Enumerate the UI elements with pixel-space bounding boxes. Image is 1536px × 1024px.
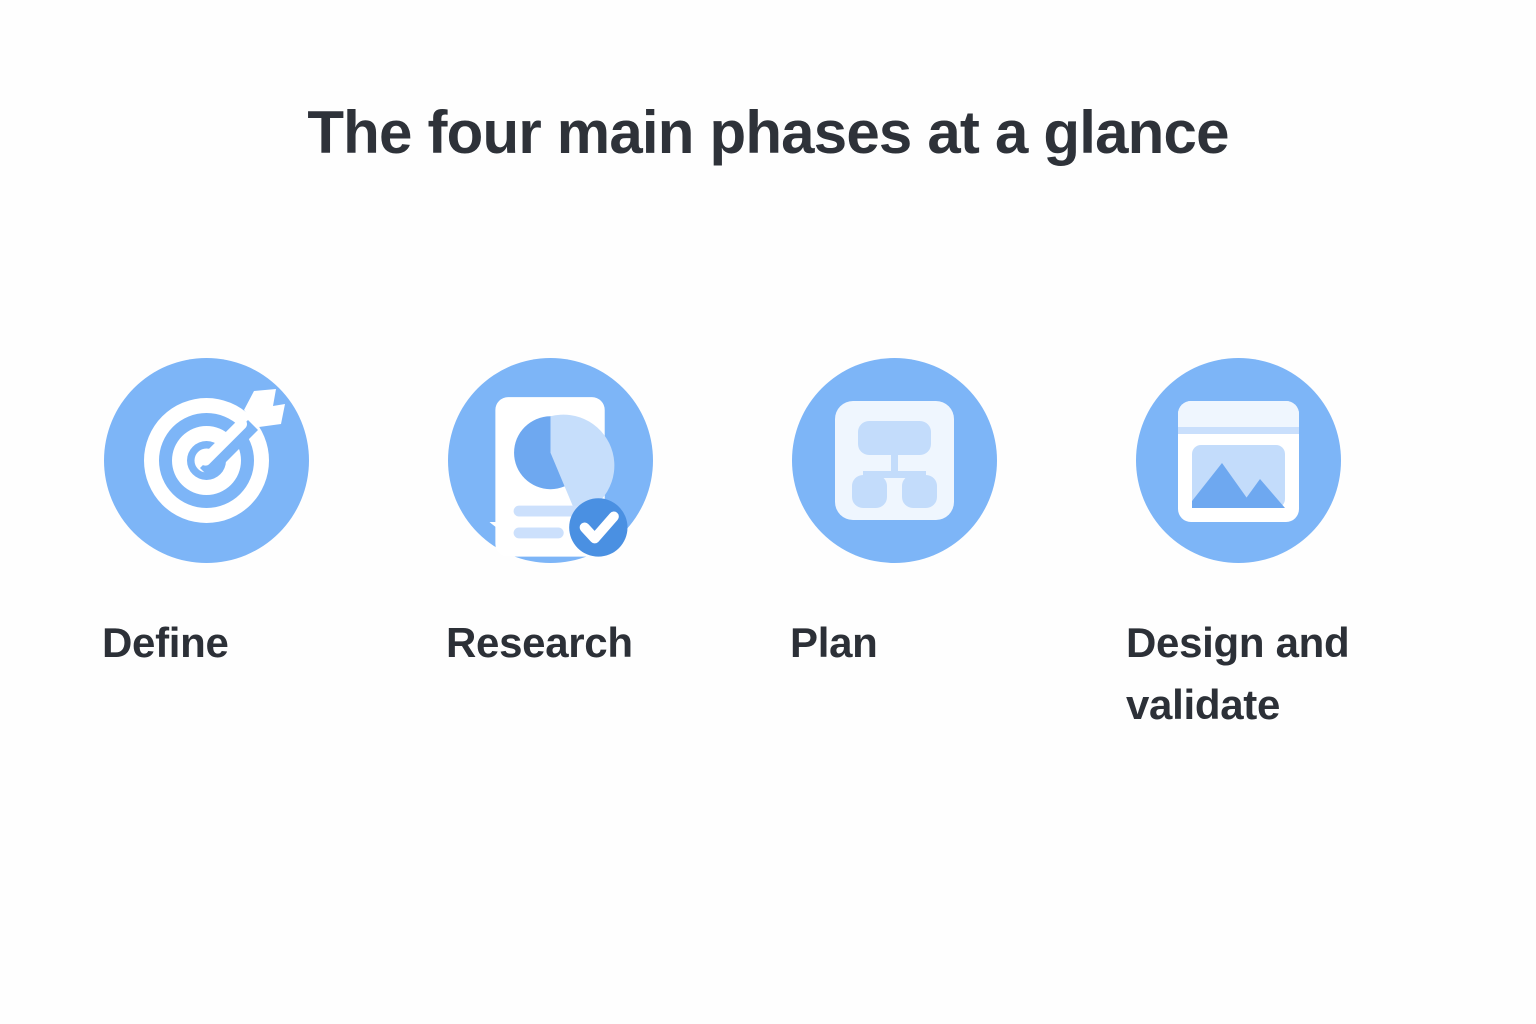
- phase-icon-design-and-validate: [1126, 352, 1350, 584]
- browser-window-image-icon: [1136, 358, 1341, 563]
- phase-list: Define: [80, 352, 1456, 736]
- phase-label-plan: Plan: [790, 612, 878, 674]
- sitemap-diagram-icon: [792, 358, 997, 563]
- phase-icon-define: [94, 352, 318, 584]
- page-title: The four main phases at a glance: [0, 100, 1536, 166]
- phase-item-define[interactable]: Define: [80, 352, 424, 674]
- phase-label-research: Research: [446, 612, 633, 674]
- phase-label-design-and-validate: Design and validate: [1126, 612, 1426, 736]
- target-arrow-icon: [104, 358, 309, 563]
- phase-label-define: Define: [102, 612, 229, 674]
- phase-item-research[interactable]: Research: [424, 352, 768, 674]
- phase-icon-plan: [782, 352, 1006, 584]
- phase-item-design-and-validate[interactable]: Design and validate: [1112, 352, 1456, 736]
- phase-item-plan[interactable]: Plan: [768, 352, 1112, 674]
- phases-overview-page: The four main phases at a glance: [0, 0, 1536, 1024]
- document-pie-chart-check-icon: [448, 358, 653, 563]
- phase-icon-research: [438, 352, 662, 584]
